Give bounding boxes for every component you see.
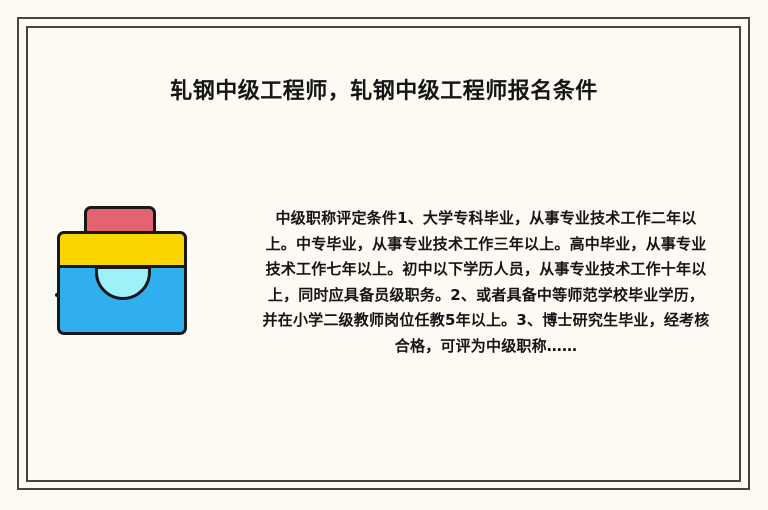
article-page: 轧钢中级工程师，轧钢中级工程师报名条件 中级职称评定条件1、大学专科毕业，从事专… xyxy=(0,0,768,510)
toolbox-body-icon xyxy=(57,265,187,335)
article-body: 中级职称评定条件1、大学专科毕业，从事专业技术工作二年以上。中专毕业，从事专业技… xyxy=(262,206,710,359)
toolbox-bottom-dash-b-icon xyxy=(164,332,169,335)
toolbox-left-dot-icon xyxy=(55,293,59,297)
toolbox-lid-icon xyxy=(57,231,187,268)
toolbox-bottom-dash-a-icon xyxy=(150,332,160,335)
toolbox-icon xyxy=(54,203,194,343)
toolbox-latch-icon xyxy=(95,266,151,300)
page-title: 轧钢中级工程师，轧钢中级工程师报名条件 xyxy=(0,76,768,108)
